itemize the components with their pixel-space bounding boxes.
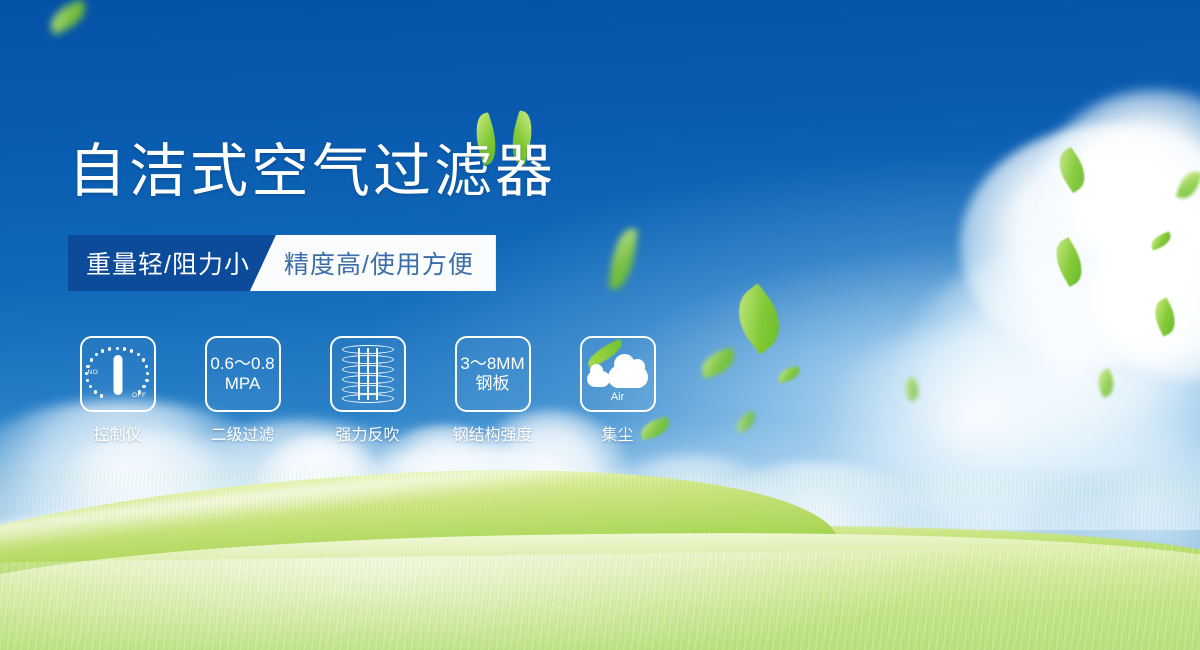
grass-field <box>0 470 1200 650</box>
dial-pointer <box>113 355 122 395</box>
subtitle-right-panel: 精度高/使用方便 <box>250 235 496 291</box>
feature-list: NO OFF 控制仪 0.6～0.8 MPA 二级过滤 <box>70 336 665 445</box>
feature-label: 控制仪 <box>93 421 141 445</box>
steel-plate-text-icon: 3～8MM 钢板 <box>455 336 531 412</box>
subtitle-left-panel: 重量轻/阻力小 <box>68 235 276 291</box>
control-dial-icon: NO OFF <box>80 336 156 412</box>
pressure-text-icon: 0.6～0.8 MPA <box>205 336 281 412</box>
feature-label: 强力反吹 <box>335 421 399 445</box>
steel-material: 钢板 <box>476 374 510 394</box>
grass-texture <box>0 470 1200 650</box>
feature-item-dust-collection[interactable]: Air 集尘 <box>570 336 665 445</box>
air-cloud-icon: Air <box>580 336 656 412</box>
air-label: Air <box>587 391 649 403</box>
pressure-unit: MPA <box>225 374 261 394</box>
feature-item-blowback[interactable]: 强力反吹 <box>320 336 415 445</box>
feature-label: 二级过滤 <box>210 421 274 445</box>
cloud-small <box>587 371 610 387</box>
coil-graphic <box>342 345 394 403</box>
cloud-graphic: Air <box>587 348 649 400</box>
filter-coil-icon <box>330 336 406 412</box>
feature-item-control-dial[interactable]: NO OFF 控制仪 <box>70 336 165 445</box>
steel-thickness: 3～8MM <box>460 354 524 374</box>
cloud-large <box>608 365 648 388</box>
page-title: 自洁式空气过滤器 <box>68 143 556 201</box>
dial-label-no: NO <box>88 369 99 376</box>
feature-label: 集尘 <box>601 421 633 445</box>
pressure-range: 0.6～0.8 <box>210 354 274 374</box>
feature-label: 钢结构强度 <box>452 421 532 445</box>
dial-graphic: NO OFF <box>87 345 149 403</box>
feature-item-pressure[interactable]: 0.6～0.8 MPA 二级过滤 <box>195 336 290 445</box>
feature-item-steel-plate[interactable]: 3～8MM 钢板 钢结构强度 <box>445 336 540 445</box>
subtitle-bar: 重量轻/阻力小 精度高/使用方便 <box>68 235 496 291</box>
dial-label-off: OFF <box>132 392 147 399</box>
product-hero-banner: 自洁式空气过滤器 重量轻/阻力小 精度高/使用方便 <box>0 0 1200 650</box>
